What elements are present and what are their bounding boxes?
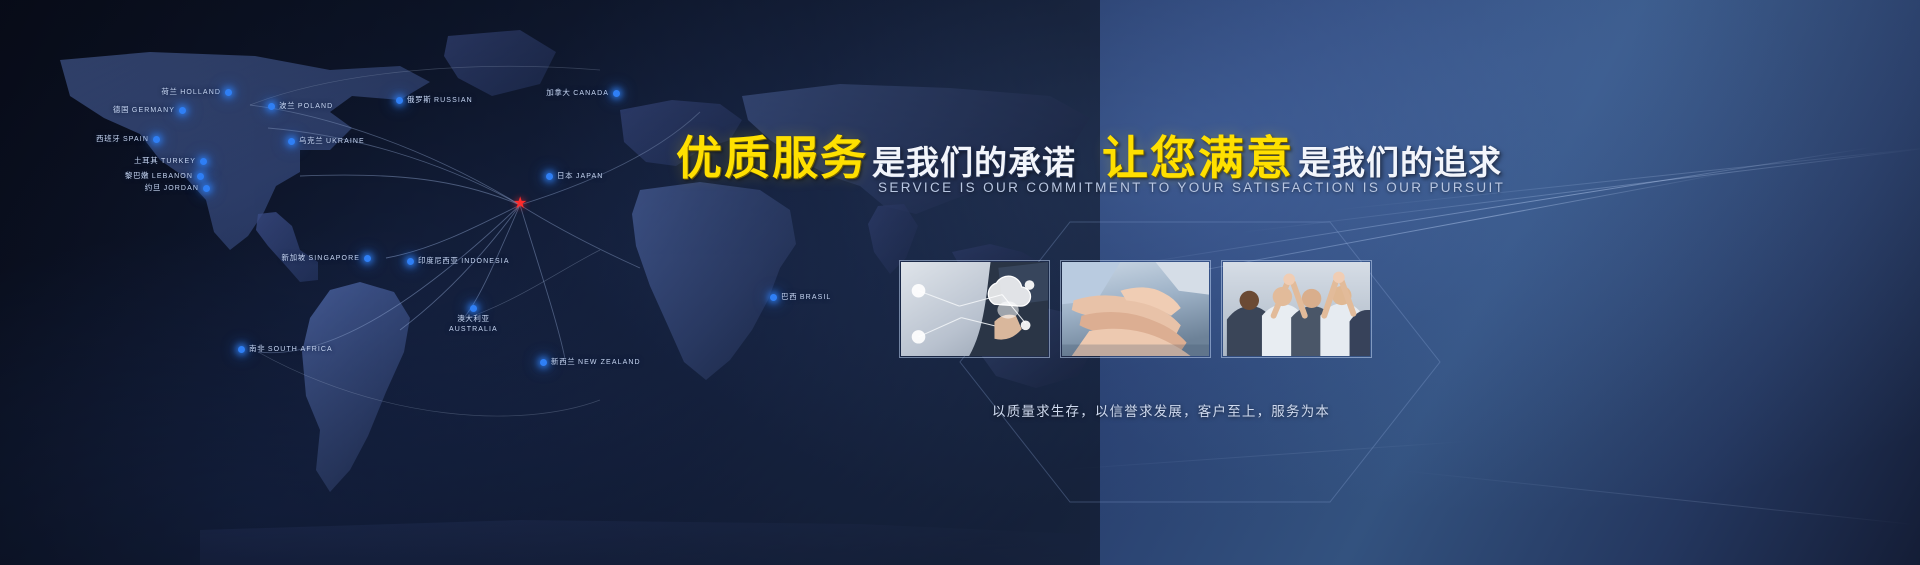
map-point-indonesia: 印度尼西亚 INDONESIA <box>407 257 510 265</box>
map-point-canada: 加拿大 CANADA <box>546 89 620 97</box>
map-point-label: 荷兰 HOLLAND <box>161 88 221 96</box>
map-point-label: 新西兰 NEW ZEALAND <box>551 358 641 366</box>
map-point-label: 新加坡 SINGAPORE <box>281 254 360 262</box>
map-point-label: 日本 JAPAN <box>557 172 603 180</box>
map-point-label: 波兰 POLAND <box>279 102 333 110</box>
map-marker-dot-icon <box>288 138 295 145</box>
map-marker-dot-icon <box>197 173 204 180</box>
map-marker-dot-icon <box>200 158 207 165</box>
photo-strip <box>899 260 1372 358</box>
map-marker-dot-icon <box>225 89 232 96</box>
map-point-label: 俄罗斯 RUSSIAN <box>407 96 473 104</box>
map-point-label: 西班牙 SPAIN <box>96 135 149 143</box>
map-marker-dot-icon <box>364 255 371 262</box>
map-marker-dot-icon <box>179 107 186 114</box>
map-point-turkey: 土耳其 TURKEY <box>134 157 207 165</box>
map-point-label: 乌克兰 UKRAINE <box>299 137 365 145</box>
map-point-spain: 西班牙 SPAIN <box>96 135 160 143</box>
map-marker-dot-icon <box>540 359 547 366</box>
headline-highlight-2: 让您满意 <box>1102 122 1294 188</box>
home-location-star-icon: ★ <box>513 196 527 212</box>
headline: 优质服务 是我们的承诺 让您满意 是我们的追求 <box>676 122 1502 188</box>
service-promise-banner: 荷兰 HOLLAND德国 GERMANY波兰 POLAND乌克兰 UKRAINE… <box>0 0 1920 565</box>
headline-normal-1: 是我们的承诺 <box>872 136 1076 184</box>
map-point-jordan: 约旦 JORDAN <box>145 184 210 192</box>
map-point-label: 南非 SOUTH AFRICA <box>249 345 333 353</box>
map-point-singapore: 新加坡 SINGAPORE <box>281 254 371 262</box>
headline-highlight-1: 优质服务 <box>676 122 868 188</box>
photo-cloud-touch <box>899 260 1050 358</box>
map-marker-dot-icon <box>153 136 160 143</box>
bottom-tagline: 以质量求生存，以信誉求发展，客户至上，服务为本 <box>992 400 1330 420</box>
map-point-label: 巴西 BRASIL <box>781 293 831 301</box>
photo-hands-stack <box>1060 260 1211 358</box>
map-point-label: 加拿大 CANADA <box>546 89 609 97</box>
map-point-germany: 德国 GERMANY <box>113 106 186 114</box>
map-marker-dot-icon <box>546 173 553 180</box>
subheadline: SERVICE IS OUR COMMITMENT TO YOUR SATISF… <box>878 180 1505 195</box>
map-point-label: 澳大利亚AUSTRALIA <box>449 314 498 335</box>
map-marker-dot-icon <box>407 258 414 265</box>
map-marker-dot-icon <box>238 346 245 353</box>
map-point-brasil: 巴西 BRASIL <box>770 293 831 301</box>
map-marker-dot-icon <box>203 185 210 192</box>
headline-normal-2: 是我们的追求 <box>1298 136 1502 184</box>
map-point-label: 约旦 JORDAN <box>145 184 199 192</box>
map-marker-dot-icon <box>396 97 403 104</box>
map-point-holland: 荷兰 HOLLAND <box>161 88 232 96</box>
map-point-label: 德国 GERMANY <box>113 106 175 114</box>
map-point-australia: 澳大利亚AUSTRALIA <box>449 305 498 335</box>
map-point-new-zealand: 新西兰 NEW ZEALAND <box>540 358 641 366</box>
map-point-poland: 波兰 POLAND <box>268 102 333 110</box>
map-point-russian: 俄罗斯 RUSSIAN <box>396 96 473 104</box>
map-point-label: 印度尼西亚 INDONESIA <box>418 257 510 265</box>
map-marker-dot-icon <box>770 294 777 301</box>
map-point-ukraine: 乌克兰 UKRAINE <box>288 137 365 145</box>
map-point-south-africa: 南非 SOUTH AFRICA <box>238 345 333 353</box>
map-point-japan: 日本 JAPAN <box>546 172 603 180</box>
map-point-label: 黎巴嫩 LEBANON <box>125 172 193 180</box>
map-point-lebanon: 黎巴嫩 LEBANON <box>125 172 204 180</box>
map-point-label: 土耳其 TURKEY <box>134 157 196 165</box>
map-marker-dot-icon <box>470 305 477 312</box>
photo-team-highfive <box>1221 260 1372 358</box>
map-marker-dot-icon <box>613 90 620 97</box>
map-marker-dot-icon <box>268 103 275 110</box>
